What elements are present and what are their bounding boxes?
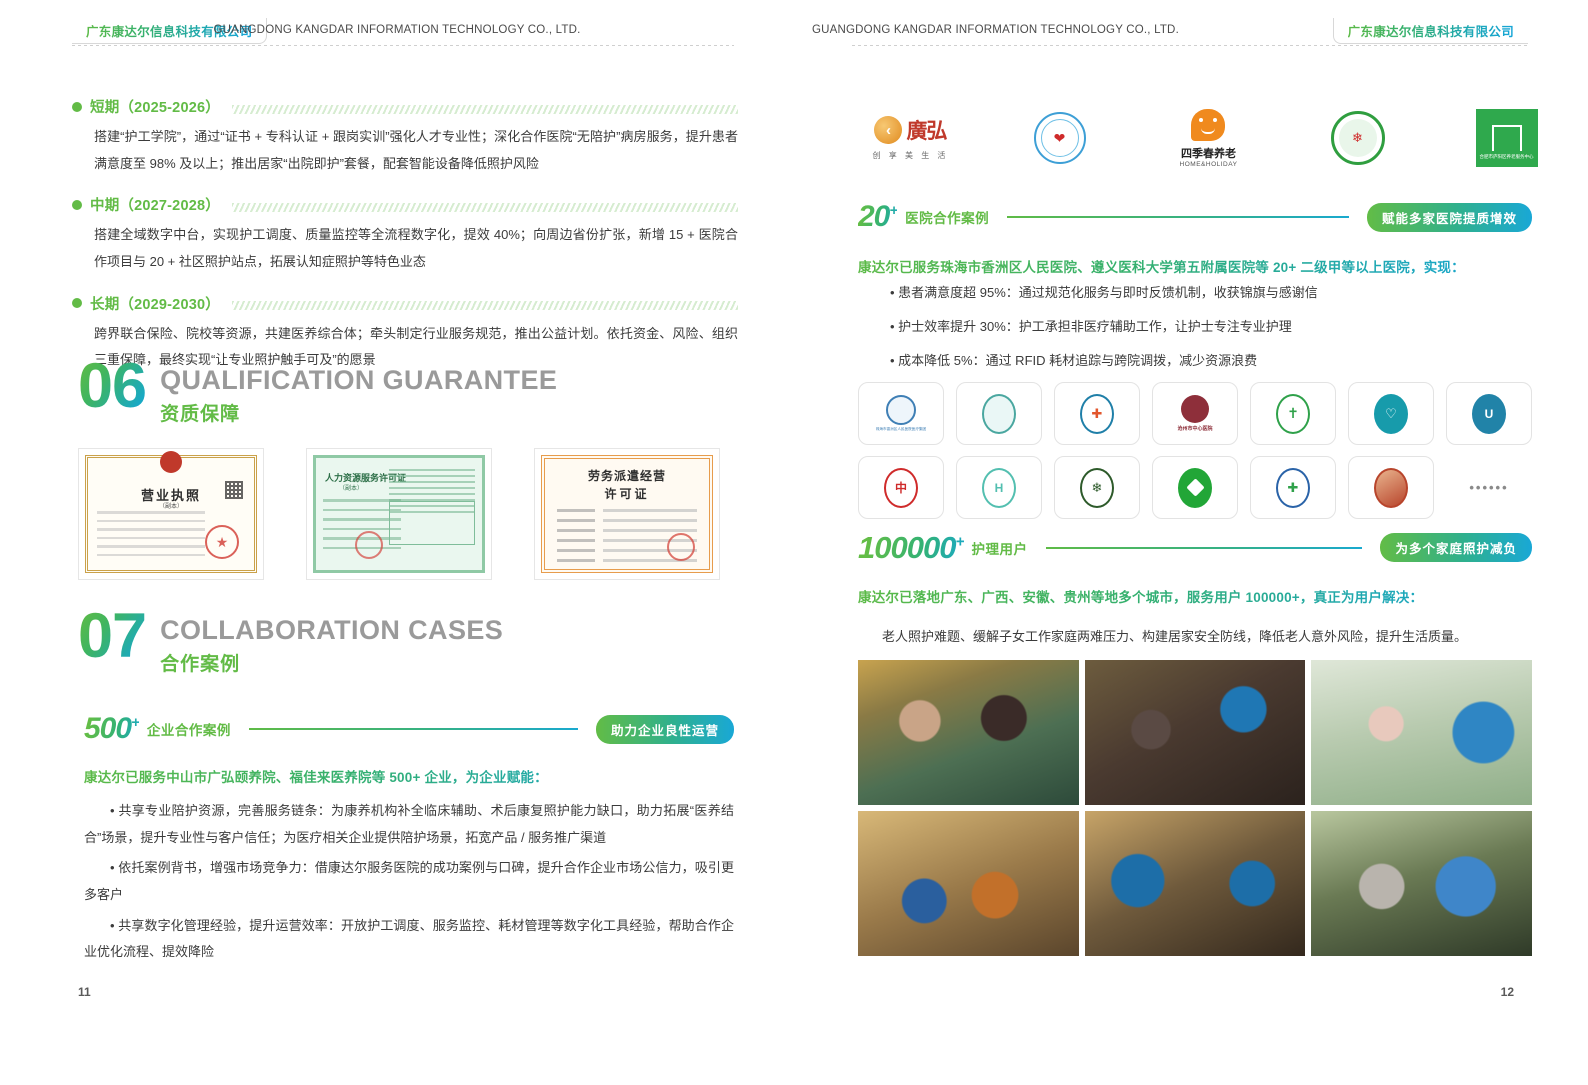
page-number: 12 — [1501, 985, 1514, 999]
stat-badge: 为多个家庭照护减负 — [1380, 533, 1532, 562]
stat-number: 500+ — [84, 714, 139, 744]
hatched-rule — [232, 203, 738, 212]
roadmap-item-header: 长期（2029-2030） — [72, 293, 738, 314]
roadmap-title: 中期（2027-2028） — [90, 194, 220, 215]
hospital-logo-green-ring-hospital — [1152, 456, 1238, 519]
list-item: 患者满意度超 95%：通过规范化服务与即时反馈机制，收获锦旗与感谢信 — [890, 286, 1528, 299]
roadmap-body: 搭建“护工学院”，通过“证书 + 专科认证 + 跟岗实训”强化人才专业性；深化合… — [72, 124, 738, 177]
hospital-lead-text: 康达尔已服务珠海市香洲区人民医院、遵义医科大学第五附属医院等 20+ 二级甲等以… — [858, 256, 1532, 276]
stat-row: 20+ 医院合作案例 赋能多家医院提质增效 — [858, 202, 1532, 232]
header-brand-tab: 广东康达尔信息科技有限公司 — [1333, 18, 1528, 44]
brand-name-en: GUANGDONG KANGDAR INFORMATION TECHNOLOGY… — [812, 24, 1179, 36]
stat-block-hospitals: 20+ 医院合作案例 赋能多家医院提质增效 — [858, 202, 1532, 232]
hospital-logo-green-peoples-hospital: ✝ — [1250, 382, 1336, 445]
home-care-green-logo: 合肥市庐阳区养老服务中心 — [1454, 104, 1559, 172]
hospital-logo-cangzhou-central-hospital: 沧州市中心医院 — [1152, 382, 1238, 445]
hospital-circle-logo: ❤ — [1007, 104, 1112, 172]
section-heading-07: 07 COLLABORATION CASES 合作案例 — [78, 608, 503, 676]
stat-number: 20+ — [858, 202, 897, 232]
page-number: 11 — [78, 985, 91, 999]
sijichun-tagline: HOME&HOLIDAY — [1180, 161, 1238, 168]
stat-connector-line — [1046, 547, 1363, 549]
section-number: 06 — [78, 358, 146, 416]
photo-elder-high-five-caregiver — [1311, 811, 1532, 956]
certificate-title-line2: 许可证 — [541, 485, 713, 502]
hospital-logos-more-ellipsis: •••••• — [1469, 480, 1508, 495]
hatched-rule — [232, 301, 738, 310]
partner-logo-row: ‹ 廣弘 创 享 美 生 活 ❤ — [858, 104, 1532, 172]
bullet-dot-icon — [72, 298, 82, 308]
hospital-logo-grid: 珠海市香洲区人民医院医疗集团 ✚ 沧州市中心医院 ✝ — [858, 382, 1532, 519]
stat-badge: 赋能多家医院提质增效 — [1367, 203, 1532, 232]
stat-connector-line — [249, 728, 578, 730]
official-seal-icon — [355, 531, 383, 559]
guanghong-tagline: 创 享 美 生 活 — [873, 150, 949, 161]
section-title-en: COLLABORATION CASES — [160, 616, 503, 644]
enterprise-benefit-list: 共享专业陪护资源，完善服务链条：为康养机构补全临床辅助、术后康复照护能力缺口，助… — [84, 798, 734, 966]
enterprise-lead-text: 康达尔已服务中山市广弘颐养院、福佳来医养院等 500+ 企业，为企业赋能： — [84, 766, 734, 786]
hospital-logo-caption: 珠海市香洲区人民医院医疗集团 — [876, 427, 926, 432]
header-divider — [72, 45, 734, 46]
stat-label: 医院合作案例 — [905, 207, 989, 227]
list-item: 护士效率提升 30%：护工承担非医疗辅助工作，让护士专注专业护理 — [890, 320, 1528, 333]
roadmap-item-short-term: 短期（2025-2026） 搭建“护工学院”，通过“证书 + 专科认证 + 跟岗… — [72, 96, 738, 177]
stat-block-users: 100000+ 护理用户 为多个家庭照护减负 — [858, 532, 1532, 563]
brand-name-en: GUANGDONG KANGDAR INFORMATION TECHNOLOGY… — [214, 24, 581, 36]
page-header-left: 广东康达尔信息科技有限公司 GUANGDONG KANGDAR INFORMAT… — [0, 0, 794, 58]
certificate-business-license: 营业执照 （副本） ★ — [78, 448, 264, 580]
photo-nurse-with-wheelchair-elder — [858, 811, 1079, 956]
hospital-logo-red-tcm-hospital: 中 — [858, 456, 944, 519]
user-lead-text: 康达尔已落地广东、广西、安徽、贵州等地多个城市，服务用户 100000+，真正为… — [858, 586, 1532, 606]
certificate-hr-service-permit: 人力资源服务许可证 （副本） — [306, 448, 492, 580]
hospital-logos-more-cell: •••••• — [1446, 456, 1532, 519]
list-item: 成本降低 5%：通过 RFID 耗材追踪与跨院调拨，减少资源浪费 — [890, 354, 1528, 367]
hospital-logo-teal-shield-hospital: ♡ — [1348, 382, 1434, 445]
list-item: 共享专业陪护资源，完善服务链条：为康养机构补全临床辅助、术后康复照护能力缺口，助… — [84, 798, 734, 851]
bullet-dot-icon — [72, 200, 82, 210]
hospital-logo-caption: 沧州市中心医院 — [1177, 425, 1212, 432]
section-title-cn: 资质保障 — [160, 399, 557, 426]
bullet-dot-icon — [72, 102, 82, 112]
hatched-rule — [232, 105, 738, 114]
section-heading-06: 06 QUALIFICATION GUARANTEE 资质保障 — [78, 358, 557, 426]
official-seal-icon: ★ — [205, 525, 239, 559]
national-emblem-icon — [160, 451, 182, 473]
hospital-benefit-list: 患者满意度超 95%：通过规范化服务与即时反馈机制，收获锦旗与感谢信 护士效率提… — [890, 286, 1528, 388]
stat-row: 100000+ 护理用户 为多个家庭照护减负 — [858, 532, 1532, 563]
official-seal-icon — [667, 533, 695, 561]
brand-name-cn: 广东康达尔信息科技有限公司 — [1348, 21, 1514, 40]
user-body-text: 老人照护难题、缓解子女工作家庭两难压力、构建居家安全防线，降低老人意外风险，提升… — [882, 625, 1532, 650]
stat-badge: 助力企业良性运营 — [596, 715, 734, 744]
roadmap-title: 长期（2029-2030） — [90, 293, 220, 314]
stat-label: 企业合作案例 — [147, 719, 231, 739]
photo-elder-and-caregiver-talking — [858, 660, 1079, 805]
hospital-logo-tcm-hospital-logo — [956, 382, 1042, 445]
section-title-cn: 合作案例 — [160, 649, 503, 676]
section-number: 07 — [78, 608, 146, 666]
roadmap-item-mid-term: 中期（2027-2028） 搭建全域数字中台，实现护工调度、质量监控等全流程数字… — [72, 194, 738, 275]
photo-two-nurses-with-elder-tablet — [1085, 811, 1306, 956]
list-item: 依托案例背书，增强市场竞争力：借康达尔服务医院的成功案例与口碑，提升合作企业市场… — [84, 855, 734, 908]
page-left: 广东康达尔信息科技有限公司 GUANGDONG KANGDAR INFORMAT… — [0, 0, 794, 1085]
list-item: 共享数字化管理经验，提升运营效率：开放护工调度、服务监控、耗材管理等数字化工具经… — [84, 913, 734, 966]
stat-block-enterprises: 500+ 企业合作案例 助力企业良性运营 康达尔已服务中山市广弘颐养院、福佳来医… — [84, 714, 734, 970]
stat-number: 100000+ — [858, 532, 964, 563]
guanghong-logo-text: 廣弘 — [906, 115, 946, 145]
roadmap-body: 搭建全域数字中台，实现护工调度、质量监控等全流程数字化，提效 40%；向周边省份… — [72, 222, 738, 275]
hospital-logo-blue-u-hospital: U — [1446, 382, 1532, 445]
page-right: GUANGDONG KANGDAR INFORMATION TECHNOLOGY… — [794, 0, 1588, 1085]
certificate-labor-dispatch-permit: 劳务派遣经营 许可证 — [534, 448, 720, 580]
guanghong-logo: ‹ 廣弘 创 享 美 生 活 — [858, 104, 963, 172]
brochure-spread: 广东康达尔信息科技有限公司 GUANGDONG KANGDAR INFORMAT… — [0, 0, 1588, 1085]
certificate-gallery: 营业执照 （副本） ★ 人力资源服务许可证 （副本） — [78, 448, 734, 580]
roadmap-title: 短期（2025-2026） — [90, 96, 220, 117]
certificate-subtitle: （副本） — [339, 483, 363, 492]
roadmap-list: 短期（2025-2026） 搭建“护工学院”，通过“证书 + 专科认证 + 跟岗… — [72, 96, 738, 391]
hospital-logo-darkgreen-herb-hospital: ❄ — [1054, 456, 1140, 519]
certificate-title: 劳务派遣经营 — [541, 467, 713, 484]
stat-connector-line — [1007, 216, 1349, 218]
roadmap-item-header: 中期（2027-2028） — [72, 194, 738, 215]
hospital-logo-zhuhai-xiangzhou-peoples-hospital: 珠海市香洲区人民医院医疗集团 — [858, 382, 944, 445]
hospital-logo-central-hospital-logo: ✚ — [1054, 382, 1140, 445]
section-title-en: QUALIFICATION GUARANTEE — [160, 366, 557, 394]
green-circle-logo: ❄ — [1305, 104, 1410, 172]
roadmap-item-header: 短期（2025-2026） — [72, 96, 738, 117]
hospital-logo-mint-h-hospital: H — [956, 456, 1042, 519]
stat-row: 500+ 企业合作案例 助力企业良性运营 — [84, 714, 734, 744]
qr-code-icon — [225, 481, 243, 499]
stat-label: 护理用户 — [972, 538, 1028, 558]
photo-caregiver-serving-meal — [1085, 660, 1306, 805]
care-photo-grid — [858, 660, 1532, 956]
hospital-logo-red-phoenix-hospital — [1348, 456, 1434, 519]
page-header-right: GUANGDONG KANGDAR INFORMATION TECHNOLOGY… — [794, 0, 1588, 58]
sijichun-eldercare-logo: 四季春养老 HOME&HOLIDAY — [1156, 104, 1261, 172]
sijichun-logo-text: 四季春养老 — [1180, 145, 1238, 161]
photo-elder-clapping-with-nurse — [1311, 660, 1532, 805]
certificate-subtitle: （副本） — [85, 501, 257, 510]
header-divider — [852, 45, 1528, 46]
hospital-logo-blue-cross-hospital: ✚ — [1250, 456, 1336, 519]
